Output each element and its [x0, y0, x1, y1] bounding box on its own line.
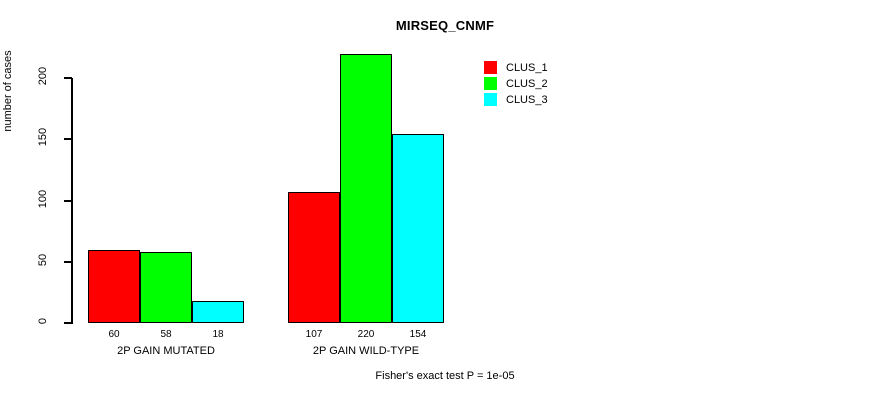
legend-item-label: CLUS_2: [506, 78, 548, 90]
bar-value-label: 154: [392, 329, 444, 340]
statistical-annotation: Fisher's exact test P = 1e-05: [0, 370, 890, 382]
bar: [88, 250, 140, 324]
legend-item: CLUS_3: [484, 92, 548, 107]
bar: [288, 192, 340, 323]
bar: [140, 252, 192, 323]
bar-value-label: 107: [288, 329, 340, 340]
legend-item: CLUS_1: [484, 60, 548, 75]
legend-color-swatch: [484, 61, 497, 74]
group-label: 2P GAIN MUTATED: [88, 345, 244, 357]
bar-value-label: 220: [340, 329, 392, 340]
legend-item: CLUS_2: [484, 76, 548, 91]
legend-item-label: CLUS_1: [506, 62, 548, 74]
legend-item-label: CLUS_3: [506, 94, 548, 106]
bar: [340, 54, 392, 324]
group-label: 2P GAIN WILD-TYPE: [288, 345, 444, 357]
bar: [392, 134, 444, 323]
bar: [192, 301, 244, 323]
bar-value-label: 58: [140, 329, 192, 340]
bar-value-label: 60: [88, 329, 140, 340]
bars-layer: 6058182P GAIN MUTATED1072201542P GAIN WI…: [0, 0, 890, 400]
chart-legend: CLUS_1CLUS_2CLUS_3: [484, 60, 548, 108]
legend-color-swatch: [484, 93, 497, 106]
bar-value-label: 18: [192, 329, 244, 340]
chart-canvas: MIRSEQ_CNMF number of cases 050100150200…: [0, 0, 890, 400]
legend-color-swatch: [484, 77, 497, 90]
